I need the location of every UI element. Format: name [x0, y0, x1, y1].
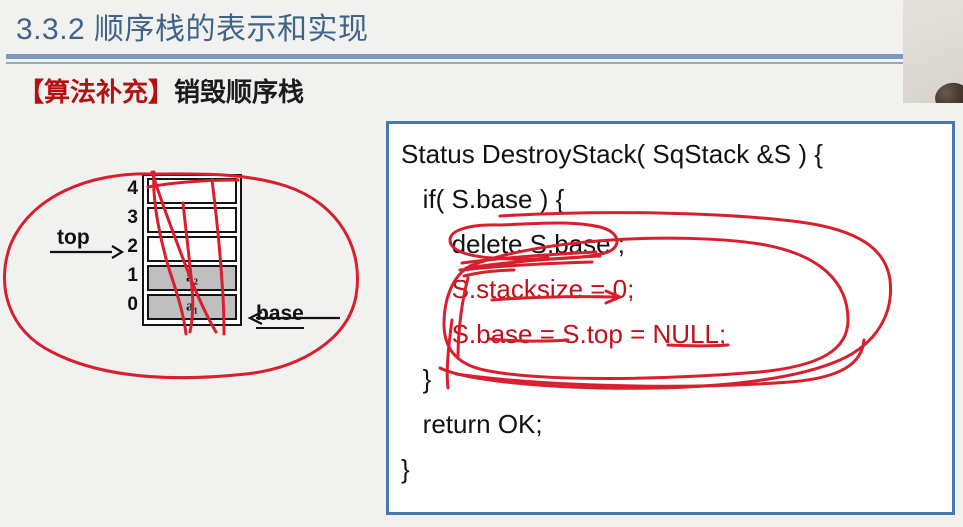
code-listing: Status DestroyStack( SqStack &S ) { if( …: [401, 132, 946, 492]
code-line-3: S.stacksize = 0;: [401, 267, 946, 312]
subtitle-tag: 【算法补充】: [18, 77, 174, 107]
code-line-5: }: [401, 357, 946, 402]
title-divider-thick: [6, 54, 957, 59]
code-line-7: }: [401, 447, 946, 492]
code-line-1: if( S.base ) {: [401, 177, 946, 222]
presenter-silhouette: [932, 80, 963, 103]
subtitle: 【算法补充】销毁顺序栈: [18, 74, 304, 110]
top-arrow-head: [112, 246, 122, 258]
subtitle-text: 销毁顺序栈: [174, 77, 304, 107]
pointer-arrows: [0, 160, 380, 390]
title-divider-thin: [6, 62, 957, 64]
presenter-video-tile[interactable]: [903, 0, 963, 103]
stack-diagram: 4 3 2 1 0 a₂ a₁ top base: [0, 160, 380, 390]
code-line-4: S.base = S.top = NULL;: [401, 312, 946, 357]
code-line-2: delete S.base ;: [401, 222, 946, 267]
page-title: 3.3.2 顺序栈的表示和实现: [16, 10, 369, 50]
code-panel: Status DestroyStack( SqStack &S ) { if( …: [386, 121, 955, 515]
code-line-0: Status DestroyStack( SqStack &S ) {: [401, 132, 946, 177]
code-line-6: return OK;: [401, 402, 946, 447]
